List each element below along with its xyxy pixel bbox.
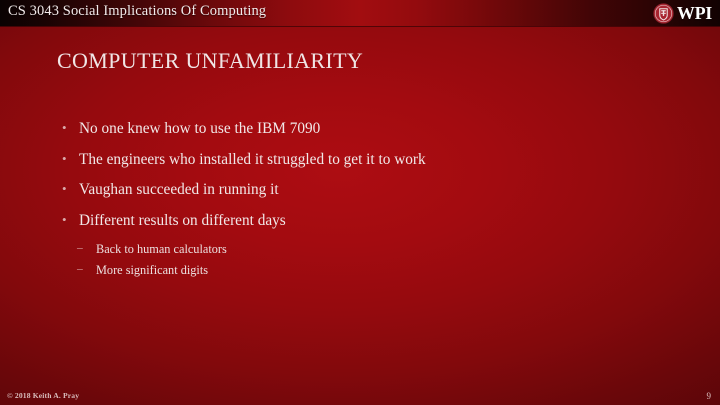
bullet-text: Different results on different days (79, 212, 286, 229)
slide-header-bar: CS 3043 Social Implications Of Computing… (0, 0, 720, 26)
wpi-wordmark: WPI (677, 4, 712, 22)
bullet-marker-icon: • (62, 212, 67, 227)
bullet-text: No one knew how to use the IBM 7090 (79, 120, 320, 137)
wpi-logo: WPI (653, 2, 712, 24)
slide-page-number: 9 (707, 391, 712, 401)
sub-bullet-item: – More significant digits (60, 263, 660, 278)
copyright-notice: © 2018 Keith A. Pray (7, 391, 79, 400)
bullet-item: • Different results on different days (60, 212, 660, 230)
sub-bullet-text: Back to human calculators (96, 242, 227, 256)
bullet-marker-icon: • (62, 151, 67, 166)
sub-bullet-item: – Back to human calculators (60, 242, 660, 257)
wpi-seal-icon (653, 3, 674, 24)
bullet-item: • The engineers who installed it struggl… (60, 151, 660, 169)
sub-bullet-text: More significant digits (96, 263, 208, 277)
bullet-text: The engineers who installed it struggled… (79, 151, 426, 168)
slide-title: COMPUTER UNFAMILIARITY (57, 48, 363, 74)
presentation-slide: CS 3043 Social Implications Of Computing… (0, 0, 720, 405)
dash-marker-icon: – (77, 263, 83, 277)
bullet-item: • Vaughan succeeded in running it (60, 181, 660, 199)
dash-marker-icon: – (77, 242, 83, 256)
bullet-text: Vaughan succeeded in running it (79, 181, 279, 198)
bullet-item: • No one knew how to use the IBM 7090 (60, 120, 660, 138)
bullet-marker-icon: • (62, 120, 67, 135)
bullet-marker-icon: • (62, 181, 67, 196)
slide-body: • No one knew how to use the IBM 7090 • … (60, 120, 660, 285)
course-title: CS 3043 Social Implications Of Computing (8, 3, 266, 20)
sub-bullet-list: – Back to human calculators – More signi… (60, 242, 660, 278)
